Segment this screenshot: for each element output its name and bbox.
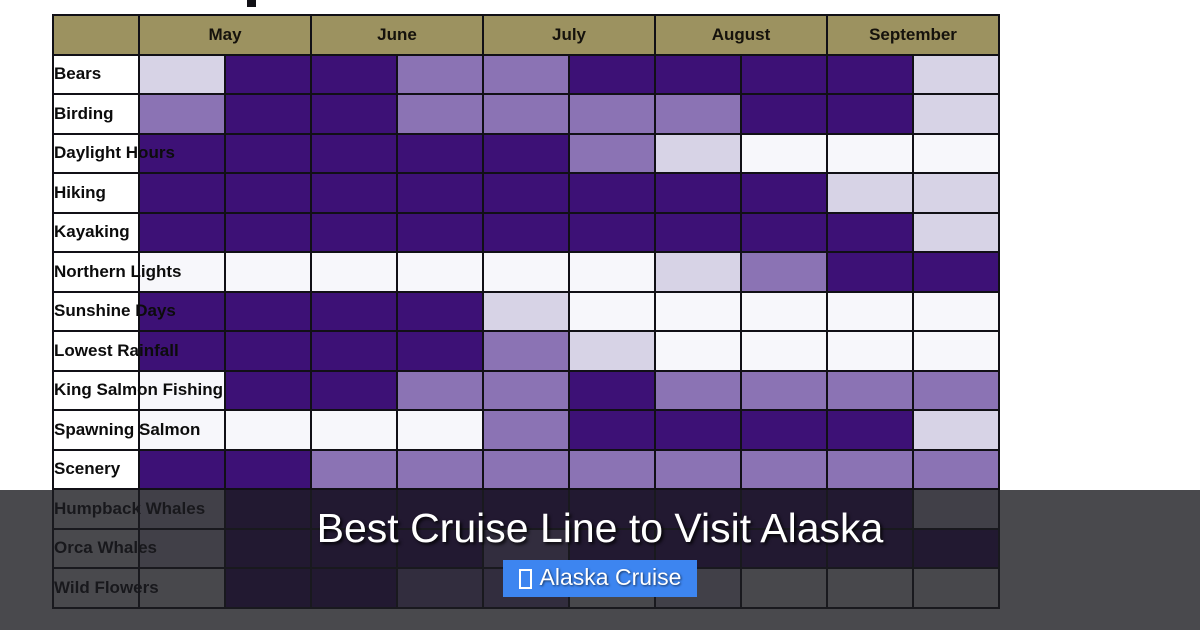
heat-cell: [827, 252, 913, 292]
heat-cell: [311, 292, 397, 332]
heat-cell: [483, 292, 569, 332]
heat-cell: [225, 292, 311, 332]
heat-cell: [311, 94, 397, 134]
source-badge[interactable]: Alaska Cruise: [503, 560, 698, 597]
heat-cell: [397, 252, 483, 292]
heat-cell: [655, 252, 741, 292]
heat-cell: [311, 331, 397, 371]
heat-cell: [483, 55, 569, 95]
column-header-august: August: [655, 15, 827, 55]
row-label-daylight-hours: Daylight Hours: [53, 134, 139, 174]
heat-cell: [741, 173, 827, 213]
heat-cell: [913, 450, 999, 490]
heat-cell: [913, 371, 999, 411]
heat-cell: [311, 134, 397, 174]
heat-cell: [397, 55, 483, 95]
header-corner-cell: [53, 15, 139, 55]
missing-glyph-box-icon: [519, 569, 532, 589]
heat-cell: [483, 134, 569, 174]
heat-cell: [225, 450, 311, 490]
heat-cell: [225, 94, 311, 134]
heat-cell: [483, 213, 569, 253]
heat-cell: [225, 134, 311, 174]
heat-cell: [741, 331, 827, 371]
heat-cell: [311, 213, 397, 253]
heat-cell: [655, 134, 741, 174]
heat-cell: [225, 410, 311, 450]
heat-cell: [827, 292, 913, 332]
heat-cell: [913, 410, 999, 450]
table-row: Lowest Rainfall: [53, 331, 999, 371]
heat-cell: [483, 450, 569, 490]
row-label-northern-lights: Northern Lights: [53, 252, 139, 292]
heat-cell: [397, 331, 483, 371]
screenshot-root: SHUT XX C MayJuneJulyAugustSeptember Bea…: [0, 0, 1200, 630]
heat-cell: [827, 450, 913, 490]
heat-cell: [139, 450, 225, 490]
heat-cell: [913, 213, 999, 253]
heat-cell: [655, 410, 741, 450]
table-row: Hiking: [53, 173, 999, 213]
heat-cell: [397, 134, 483, 174]
heat-cell: [569, 410, 655, 450]
heat-cell: [913, 292, 999, 332]
heat-cell: [741, 292, 827, 332]
heat-cell: [569, 94, 655, 134]
table-row: Sunshine Days: [53, 292, 999, 332]
heat-cell: [741, 213, 827, 253]
row-label-kayaking: Kayaking: [53, 213, 139, 253]
row-label-king-salmon-fishing: King Salmon Fishing: [53, 371, 139, 411]
heat-cell: [311, 410, 397, 450]
table-row: Northern Lights: [53, 252, 999, 292]
heat-cell: [827, 94, 913, 134]
heat-cell: [225, 173, 311, 213]
heat-cell: [827, 55, 913, 95]
heat-cell: [139, 213, 225, 253]
heat-cell: [569, 450, 655, 490]
table-row: Kayaking: [53, 213, 999, 253]
heat-cell: [569, 173, 655, 213]
heat-cell: [139, 55, 225, 95]
table-row: Spawning Salmon: [53, 410, 999, 450]
heat-cell: [311, 371, 397, 411]
heat-cell: [655, 173, 741, 213]
heat-cell: [913, 331, 999, 371]
heat-cell: [827, 410, 913, 450]
heat-cell: [397, 292, 483, 332]
heat-cell: [913, 173, 999, 213]
heat-cell: [397, 371, 483, 411]
heat-cell: [569, 371, 655, 411]
heat-cell: [827, 371, 913, 411]
heat-cell: [913, 134, 999, 174]
heat-cell: [139, 94, 225, 134]
heat-cell: [741, 371, 827, 411]
heat-cell: [827, 331, 913, 371]
heat-cell: [655, 371, 741, 411]
row-label-scenery: Scenery: [53, 450, 139, 490]
cropped-text-descender-mark: [247, 0, 256, 7]
heat-cell: [655, 450, 741, 490]
column-header-june: June: [311, 15, 483, 55]
heat-cell: [741, 55, 827, 95]
page-title: Best Cruise Line to Visit Alaska: [317, 506, 884, 551]
heat-cell: [483, 173, 569, 213]
heat-cell: [827, 173, 913, 213]
row-label-sunshine-days: Sunshine Days: [53, 292, 139, 332]
heat-cell: [483, 410, 569, 450]
heat-cell: [741, 410, 827, 450]
heat-cell: [311, 450, 397, 490]
heat-cell: [741, 450, 827, 490]
heat-cell: [741, 134, 827, 174]
heat-cell: [827, 134, 913, 174]
row-label-lowest-rainfall: Lowest Rainfall: [53, 331, 139, 371]
heat-cell: [483, 94, 569, 134]
heat-cell: [311, 173, 397, 213]
heat-cell: [397, 410, 483, 450]
row-label-hiking: Hiking: [53, 173, 139, 213]
heat-cell: [225, 252, 311, 292]
heat-cell: [311, 252, 397, 292]
source-badge-label: Alaska Cruise: [540, 564, 682, 591]
heat-cell: [397, 213, 483, 253]
heat-cell: [397, 94, 483, 134]
column-header-september: September: [827, 15, 999, 55]
heat-cell: [655, 331, 741, 371]
heat-cell: [655, 292, 741, 332]
heat-cell: [569, 292, 655, 332]
overlay-content: Best Cruise Line to Visit Alaska Alaska …: [0, 490, 1200, 630]
table-row: Bears: [53, 55, 999, 95]
header-row: MayJuneJulyAugustSeptember: [53, 15, 999, 55]
heat-cell: [569, 55, 655, 95]
heat-cell: [827, 213, 913, 253]
table-header: MayJuneJulyAugustSeptember: [53, 15, 999, 55]
heat-cell: [569, 331, 655, 371]
heat-cell: [139, 173, 225, 213]
row-label-spawning-salmon: Spawning Salmon: [53, 410, 139, 450]
heat-cell: [569, 213, 655, 253]
heat-cell: [397, 450, 483, 490]
heat-cell: [913, 94, 999, 134]
heat-cell: [569, 252, 655, 292]
table-row: Daylight Hours: [53, 134, 999, 174]
row-label-bears: Bears: [53, 55, 139, 95]
heat-cell: [483, 331, 569, 371]
heat-cell: [225, 55, 311, 95]
heat-cell: [741, 252, 827, 292]
table-row: Birding: [53, 94, 999, 134]
heat-cell: [655, 55, 741, 95]
row-label-birding: Birding: [53, 94, 139, 134]
table-row: King Salmon Fishing: [53, 371, 999, 411]
heat-cell: [397, 173, 483, 213]
heat-cell: [913, 252, 999, 292]
heat-cell: [225, 371, 311, 411]
heat-cell: [569, 134, 655, 174]
heat-cell: [913, 55, 999, 95]
heat-cell: [655, 213, 741, 253]
heat-cell: [741, 94, 827, 134]
heat-cell: [483, 252, 569, 292]
column-header-may: May: [139, 15, 311, 55]
column-header-july: July: [483, 15, 655, 55]
table-row: Scenery: [53, 450, 999, 490]
heat-cell: [225, 213, 311, 253]
heat-cell: [655, 94, 741, 134]
heat-cell: [483, 371, 569, 411]
heat-cell: [225, 331, 311, 371]
heat-cell: [311, 55, 397, 95]
